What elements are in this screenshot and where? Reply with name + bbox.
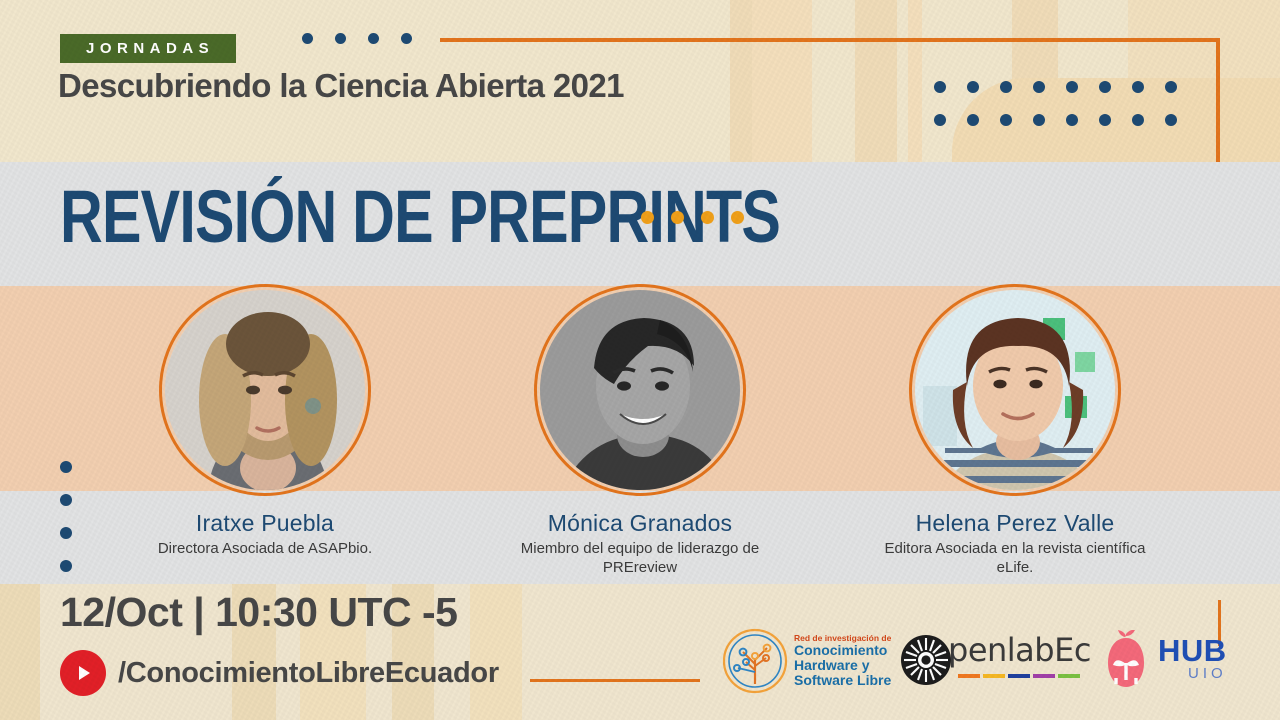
- youtube-link[interactable]: /ConocimientoLibreEcuador: [60, 650, 499, 696]
- decor-dot: [1000, 114, 1012, 126]
- avatar: [540, 290, 740, 490]
- circuit-tree-icon: [722, 628, 788, 694]
- speaker-card: Iratxe Puebla Directora Asociada de ASAP…: [95, 284, 435, 558]
- decor-stripe: [908, 0, 922, 162]
- decor-stripe: [730, 0, 752, 162]
- openlabec-gear-o-icon: [900, 634, 952, 686]
- decor-dot: [1165, 81, 1177, 93]
- title-dot: [671, 211, 684, 224]
- jornadas-badge: JORNADAS: [60, 34, 236, 63]
- logo-openlabec: penlabEc: [900, 634, 1091, 686]
- decor-dot: [60, 461, 72, 473]
- decor-dot: [1099, 81, 1111, 93]
- avatar: [165, 290, 365, 490]
- decor-dot: [60, 527, 72, 539]
- logo-red-line2: Conocimiento: [794, 643, 891, 658]
- decor-dot: [1132, 114, 1144, 126]
- decor-dot: [1000, 81, 1012, 93]
- decor-dot: [967, 81, 979, 93]
- speaker-photo-iratxe-puebla: [159, 284, 371, 496]
- decor-dot: [1033, 114, 1045, 126]
- logo-openlabec-word: penlabEc: [948, 634, 1091, 666]
- decor-rule-orange: [530, 679, 700, 682]
- logo-hub-uio: HUB UIO: [1100, 630, 1227, 688]
- speaker-card: Helena Perez Valle Editora Asociada en l…: [845, 284, 1185, 577]
- youtube-play-icon[interactable]: [60, 650, 106, 696]
- speaker-role: Miembro del equipo de liderazgo de PREre…: [470, 539, 810, 577]
- decor-dot: [1066, 81, 1078, 93]
- title-dot: [701, 211, 714, 224]
- title-dot: [641, 211, 654, 224]
- logo-red-investigacion: Red de investigación de Conocimiento Har…: [722, 628, 891, 694]
- decor-dot: [368, 33, 379, 44]
- title-dot: [731, 211, 744, 224]
- logo-red-line4: Software Libre: [794, 673, 891, 688]
- decor-dot: [1132, 81, 1144, 93]
- speaker-name: Iratxe Puebla: [95, 510, 435, 537]
- pear-icon: [1100, 630, 1152, 688]
- logo-hub-title: HUB: [1158, 636, 1227, 665]
- event-headline: Descubriendo la Ciencia Abierta 2021: [58, 66, 624, 108]
- poster-canvas: JORNADAS Descubriendo la Ciencia Abierta…: [0, 0, 1280, 720]
- avatar: [915, 290, 1115, 490]
- decor-dot: [967, 114, 979, 126]
- decor-dot: [60, 560, 72, 572]
- decor-bracket-vertical: [1216, 38, 1220, 162]
- speaker-role: Editora Asociada en la revista científic…: [845, 539, 1185, 577]
- decor-dot: [1099, 114, 1111, 126]
- speaker-name: Mónica Granados: [470, 510, 810, 537]
- logo-red-line3: Hardware y: [794, 658, 891, 673]
- decor-stripe: [855, 0, 897, 162]
- speaker-role: Directora Asociada de ASAPbio.: [95, 539, 435, 558]
- decor-dot: [335, 33, 346, 44]
- speaker-photo-monica-granados: [534, 284, 746, 496]
- decor-dot: [934, 114, 946, 126]
- decor-bracket-horizontal: [440, 38, 1220, 42]
- logo-red-text: Red de investigación de Conocimiento Har…: [794, 634, 891, 687]
- logo-openlabec-bars: [958, 674, 1080, 678]
- event-datetime: 12/Oct | 10:30 UTC -5: [60, 589, 457, 636]
- decor-dot: [1066, 114, 1078, 126]
- decor-dot: [934, 81, 946, 93]
- decor-dot: [302, 33, 313, 44]
- decor-dot: [60, 494, 72, 506]
- decor-stripe: [752, 0, 812, 162]
- youtube-handle[interactable]: /ConocimientoLibreEcuador: [118, 657, 499, 690]
- decor-dot: [1165, 114, 1177, 126]
- decor-dot: [1033, 81, 1045, 93]
- decor-dot: [401, 33, 412, 44]
- headline-line-1: Descubriendo la: [58, 67, 306, 104]
- speaker-card: Mónica Granados Miembro del equipo de li…: [470, 284, 810, 577]
- logo-hub-text: HUB UIO: [1158, 636, 1227, 682]
- speaker-name: Helena Perez Valle: [845, 510, 1185, 537]
- headline-line-2: Ciencia Abierta 2021: [314, 67, 624, 104]
- speaker-photo-helena-perez-valle: [909, 284, 1121, 496]
- decor-stripe: [0, 584, 40, 720]
